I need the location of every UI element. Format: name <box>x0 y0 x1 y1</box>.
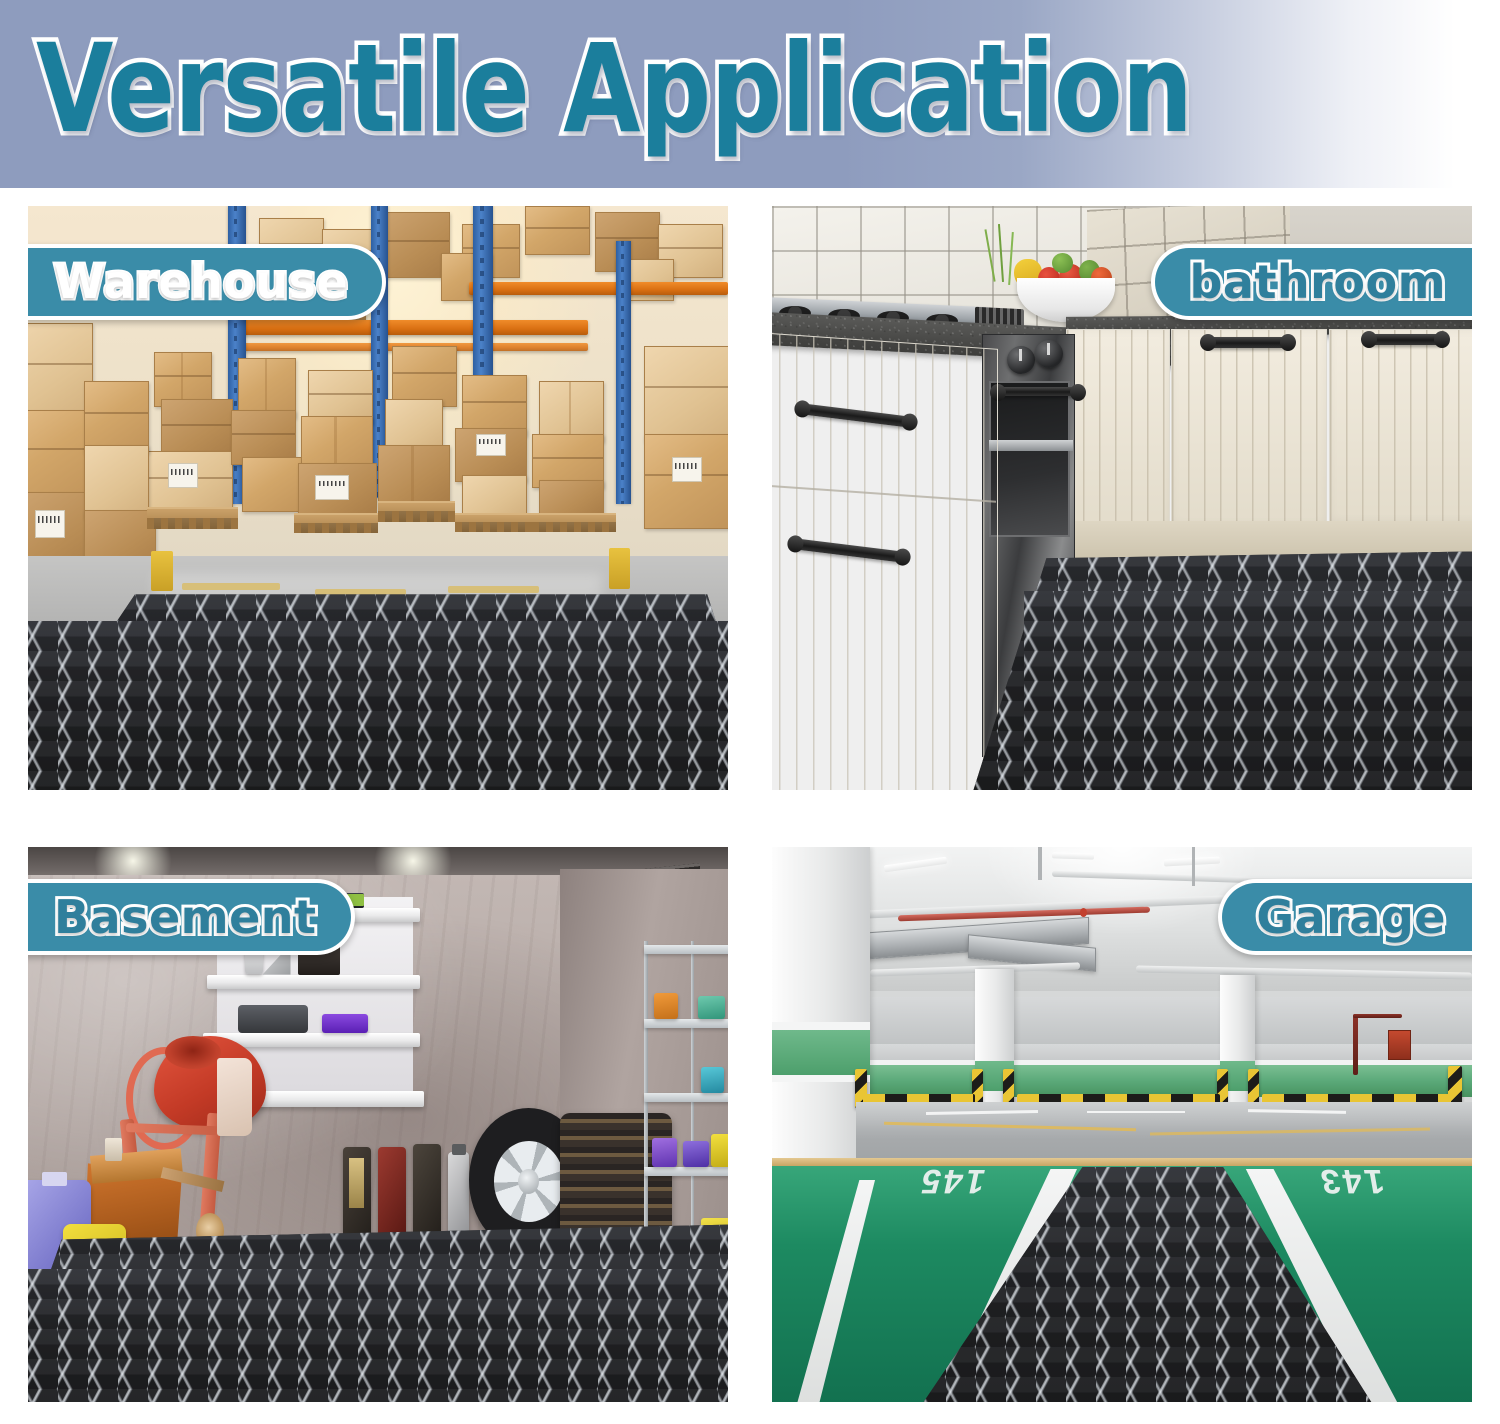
parking-space-number-right: 143 <box>1315 1161 1388 1200</box>
page-title: Versatile Application <box>36 14 1192 164</box>
panel-bathroom[interactable]: bathroom <box>772 206 1472 790</box>
oil-bottle <box>378 1147 406 1244</box>
label-badge-garage: Garage <box>1218 879 1472 955</box>
panel-grid: Warehouse <box>28 206 1472 1402</box>
label-text-bathroom: bathroom <box>1189 258 1446 306</box>
header-banner: Versatile Application <box>0 0 1500 188</box>
label-text-garage: Garage <box>1256 893 1446 941</box>
label-badge-bathroom: bathroom <box>1151 244 1472 320</box>
oven-handle <box>996 387 1080 396</box>
wall-shelf <box>207 975 421 989</box>
oil-bottle <box>413 1144 441 1244</box>
parking-space-number-left: 145 <box>915 1161 989 1200</box>
panel-warehouse[interactable]: Warehouse <box>28 206 728 790</box>
panel-garage[interactable]: 145 143 Garage <box>772 847 1472 1402</box>
cabinet-handle <box>1206 337 1290 348</box>
label-badge-basement: Basement <box>28 879 355 955</box>
label-text-warehouse: Warehouse <box>54 258 348 306</box>
label-text-basement: Basement <box>54 893 317 941</box>
spray-can <box>448 1152 469 1241</box>
cabinet-handle <box>1367 334 1444 345</box>
label-badge-warehouse: Warehouse <box>28 244 386 320</box>
panel-basement[interactable]: Basement <box>28 847 728 1402</box>
